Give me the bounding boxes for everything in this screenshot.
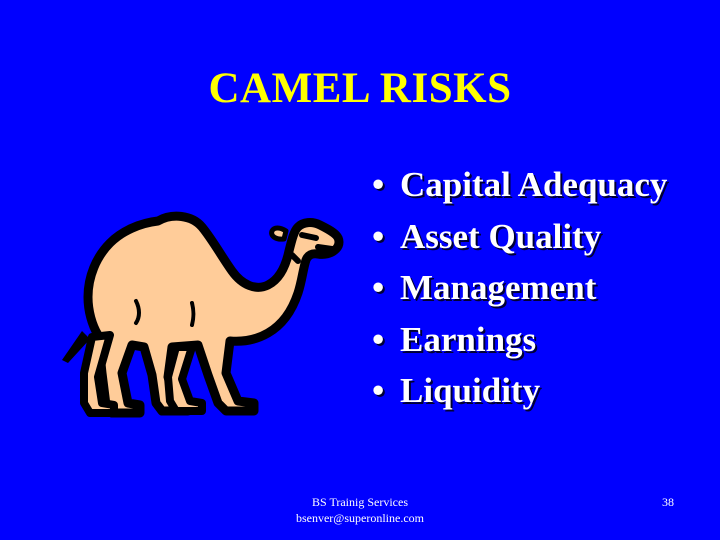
camel-nostril: [292, 255, 298, 261]
camel-mouth: [318, 247, 332, 249]
footer-credit: BS Trainig Services bsenver@superonline.…: [0, 494, 720, 526]
camel-illustration: [40, 205, 360, 435]
slide-title: CAMEL RISKS: [0, 66, 720, 111]
camel-shoulder-line: [192, 303, 194, 325]
bullet-marker-icon: •: [372, 368, 384, 414]
list-item: • Earnings: [368, 317, 708, 363]
camel-eye: [302, 235, 316, 238]
camel-front-leg-far: [168, 347, 202, 411]
list-item: • Liquidity: [368, 368, 708, 414]
bullet-marker-icon: •: [372, 162, 384, 208]
bullet-marker-icon: •: [372, 265, 384, 311]
list-item-label: Capital Adequacy: [400, 165, 667, 204]
list-item-label: Earnings: [400, 320, 536, 359]
list-item-label: Management: [400, 268, 596, 307]
footer-email: bsenver@superonline.com: [0, 510, 720, 526]
bullet-list: • Capital Adequacy • Asset Quality • Man…: [368, 162, 708, 420]
list-item: • Management: [368, 265, 708, 311]
list-item: • Asset Quality: [368, 214, 708, 260]
camel-ear: [272, 228, 286, 239]
camel-body: [88, 216, 339, 413]
camel-icon: [40, 205, 360, 435]
list-item-label: Asset Quality: [400, 217, 601, 256]
bullet-marker-icon: •: [372, 214, 384, 260]
footer-organization: BS Trainig Services: [0, 494, 720, 510]
bullet-marker-icon: •: [372, 317, 384, 363]
list-item-label: Liquidity: [400, 371, 540, 410]
presentation-slide: CAMEL RISKS • Capital A: [0, 0, 720, 540]
list-item: • Capital Adequacy: [368, 162, 708, 208]
page-number: 38: [662, 494, 674, 510]
